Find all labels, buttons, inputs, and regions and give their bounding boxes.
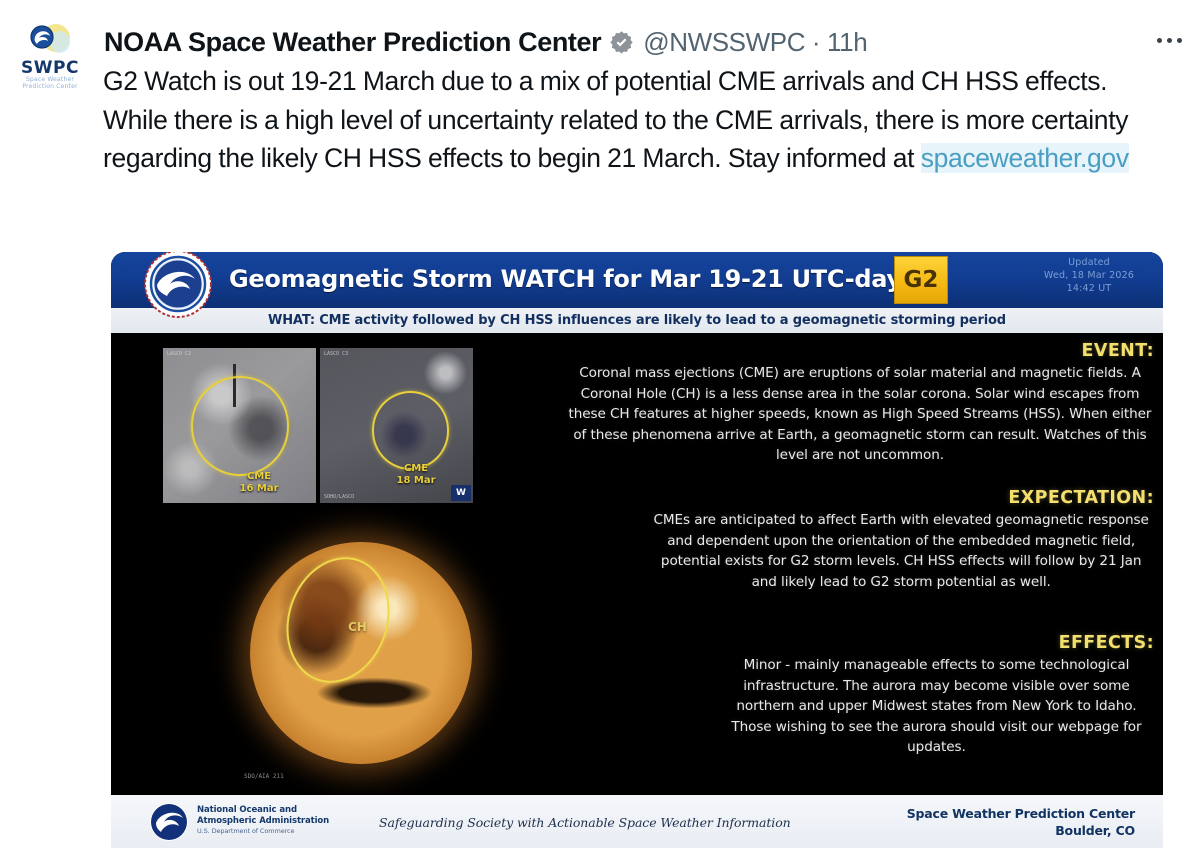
- noaa-swpc-logo-icon: [26, 22, 74, 62]
- account-handle[interactable]: @NWSSWPC: [643, 27, 805, 57]
- dot-2: [1167, 38, 1172, 43]
- solar-disk-image: CH SDO/AIA 211: [236, 528, 486, 778]
- footer-agency-line1: National Oceanic and: [197, 805, 329, 816]
- section-expectation-heading: EXPECTATION:: [566, 488, 1154, 508]
- separator-dot: ·: [812, 27, 820, 57]
- avatar-acronym: SWPC: [14, 58, 86, 78]
- nws-noaa-seal-icon: [143, 252, 213, 319]
- infographic-main: LASCO C2 CME 16 Mar LASCO C3 SOHO/LASCO …: [111, 333, 1163, 795]
- section-event: EVENT: Coronal mass ejections (CME) are …: [566, 341, 1154, 466]
- cme-label-right-line1: CME: [397, 463, 436, 475]
- timestamp[interactable]: 11h: [827, 27, 867, 57]
- footer-agency-block: National Oceanic and Atmospheric Adminis…: [197, 805, 329, 837]
- section-event-body: Coronal mass ejections (CME) are eruptio…: [566, 363, 1154, 466]
- banner-title: Geomagnetic Storm WATCH for Mar 19-21 UT…: [229, 265, 916, 293]
- coronagraph-right-stamp-bottom: SOHO/LASCO: [324, 494, 354, 500]
- updated-time: 14:42 UT: [1029, 282, 1149, 295]
- infographic-text-column: EVENT: Coronal mass ejections (CME) are …: [566, 333, 1154, 795]
- tweet-header: NOAA Space Weather Prediction Center @NW…: [104, 22, 1186, 62]
- section-effects-body: Minor - mainly manageable effects to som…: [719, 655, 1154, 758]
- updated-label: Updated: [1029, 256, 1149, 269]
- coronagraph-panel-left: LASCO C2 CME 16 Mar: [163, 348, 316, 503]
- satellite-logo-icon: W: [451, 485, 471, 501]
- more-options-icon[interactable]: [1146, 26, 1192, 54]
- tweet-post: SWPC Space Weather Prediction Center NOA…: [0, 0, 1200, 848]
- tweet-text: G2 Watch is out 19-21 March due to a mix…: [103, 62, 1168, 178]
- footer-center-line2: Boulder, CO: [907, 822, 1135, 839]
- coronagraph-right-stamp: LASCO C3: [324, 351, 348, 357]
- avatar[interactable]: SWPC Space Weather Prediction Center: [14, 20, 86, 98]
- section-event-heading: EVENT:: [566, 341, 1154, 361]
- footer-agency-dept: U.S. Department of Commerce: [197, 826, 329, 837]
- section-effects: EFFECTS: Minor - mainly manageable effec…: [566, 633, 1154, 758]
- cme-label-left-line2: 16 Mar: [240, 483, 279, 495]
- infographic-image[interactable]: Geomagnetic Storm WATCH for Mar 19-21 UT…: [111, 252, 1163, 848]
- infographic-banner: Geomagnetic Storm WATCH for Mar 19-21 UT…: [111, 252, 1163, 308]
- solar-disk-stamp: SDO/AIA 211: [244, 773, 284, 780]
- noaa-seal-icon: [149, 801, 189, 843]
- what-strip: WHAT: CME activity followed by CH HSS in…: [111, 308, 1163, 333]
- infographic-footer: National Oceanic and Atmospheric Adminis…: [111, 795, 1163, 848]
- cme-annotation-circle-right: [372, 391, 449, 469]
- storm-scale-badge: G2: [894, 256, 948, 304]
- dot-3: [1177, 38, 1182, 43]
- footer-center-line1: Space Weather Prediction Center: [907, 805, 1135, 822]
- spaceweather-link[interactable]: spaceweather.gov: [921, 143, 1129, 173]
- banner-updated-block: Updated Wed, 18 Mar 2026 14:42 UT: [1029, 256, 1149, 295]
- coronagraph-panel-right: LASCO C3 SOHO/LASCO CME 18 Mar W: [320, 348, 473, 503]
- coronagraph-panels: LASCO C2 CME 16 Mar LASCO C3 SOHO/LASCO …: [163, 348, 473, 503]
- verified-badge-icon: [609, 30, 634, 55]
- footer-tagline: Safeguarding Society with Actionable Spa…: [379, 815, 791, 830]
- what-line-text: WHAT: CME activity followed by CH HSS in…: [268, 313, 1006, 328]
- cme-label-left-line1: CME: [240, 471, 279, 483]
- cme-label-left: CME 16 Mar: [240, 471, 279, 495]
- cme-label-right-line2: 18 Mar: [397, 475, 436, 487]
- updated-date: Wed, 18 Mar 2026: [1029, 269, 1149, 282]
- handle-and-time: @NWSSWPC · 11h: [643, 27, 867, 58]
- coronagraph-left-stamp: LASCO C2: [167, 351, 191, 357]
- footer-center-block: Space Weather Prediction Center Boulder,…: [907, 805, 1135, 839]
- footer-agency-line2: Atmospheric Administration: [197, 816, 329, 827]
- dot-1: [1157, 38, 1162, 43]
- section-expectation: EXPECTATION: CMEs are anticipated to aff…: [566, 488, 1154, 592]
- coronal-hole-label: CH: [348, 620, 367, 634]
- avatar-subtitle: Space Weather Prediction Center: [14, 76, 86, 90]
- section-effects-heading: EFFECTS:: [566, 633, 1154, 653]
- section-expectation-body: CMEs are anticipated to affect Earth wit…: [648, 510, 1154, 592]
- display-name[interactable]: NOAA Space Weather Prediction Center: [104, 27, 601, 58]
- cme-label-right: CME 18 Mar: [397, 463, 436, 487]
- cme-annotation-circle-left: [191, 376, 290, 476]
